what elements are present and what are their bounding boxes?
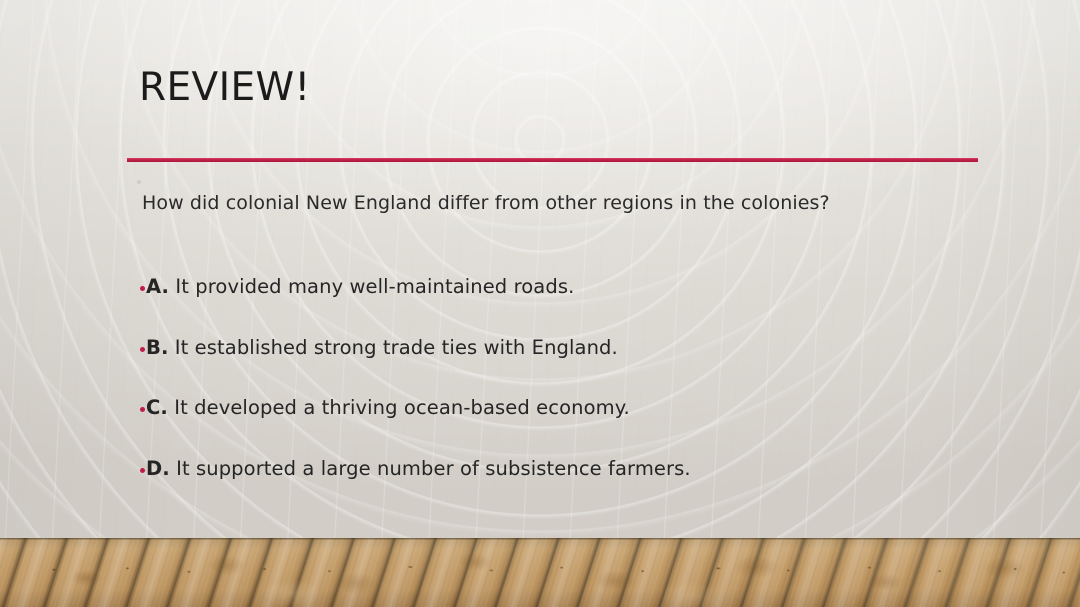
choice-text: It established strong trade ties with En… [168, 336, 617, 359]
choice-text: It developed a thriving ocean-based econ… [168, 396, 630, 419]
list-item: C. It developed a thriving ocean-based e… [132, 397, 1012, 458]
answer-choice-b: B. It established strong trade ties with… [146, 337, 618, 359]
list-item: D. It supported a large number of subsis… [132, 458, 1012, 519]
bullet-dot-icon [137, 180, 141, 184]
bullet-dot-icon [140, 347, 145, 352]
title-accent-rule [127, 158, 978, 162]
slide-body: How did colonial New England differ from… [132, 176, 1012, 216]
choice-text: It supported a large number of subsisten… [170, 457, 691, 480]
list-item: A. It provided many well-maintained road… [132, 276, 1012, 337]
answer-choice-c: C. It developed a thriving ocean-based e… [146, 397, 630, 419]
answer-choice-d: D. It supported a large number of subsis… [146, 458, 691, 480]
bullet-dot-icon [140, 407, 145, 412]
answer-choice-a: A. It provided many well-maintained road… [146, 276, 574, 298]
choice-letter: A. [146, 275, 169, 298]
choice-letter: B. [146, 336, 168, 359]
choice-text: It provided many well-maintained roads. [169, 275, 574, 298]
choice-letter: D. [146, 457, 170, 480]
bullet-dot-icon [140, 286, 145, 291]
floor-wood-knots [0, 538, 1080, 607]
choice-letter: C. [146, 396, 168, 419]
answer-choice-list: A. It provided many well-maintained road… [132, 276, 1012, 518]
slide-title: REVIEW! [139, 68, 311, 107]
bullet-dot-icon [140, 468, 145, 473]
slide-background-wood-floor [0, 538, 1080, 607]
question-text: How did colonial New England differ from… [142, 192, 830, 214]
question-row: How did colonial New England differ from… [132, 176, 1012, 216]
floor-edge-line [0, 538, 1080, 540]
presentation-slide: REVIEW! How did colonial New England dif… [0, 0, 1080, 607]
list-item: B. It established strong trade ties with… [132, 337, 1012, 398]
